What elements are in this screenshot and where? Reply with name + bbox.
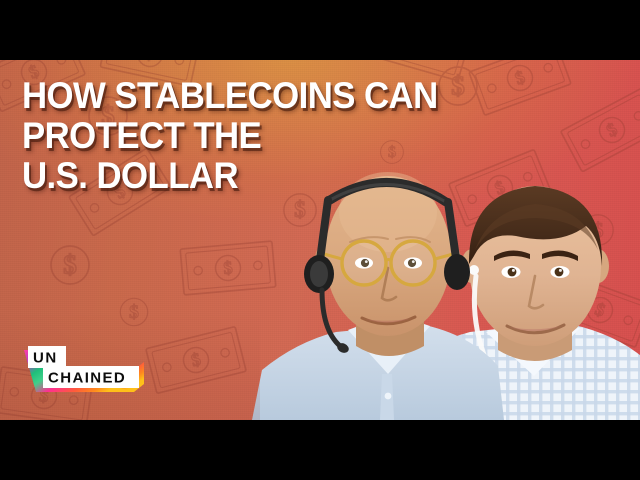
title-line-1: HOW STABLECOINS CAN [22, 76, 530, 116]
title-line-2: PROTECT THE [22, 116, 530, 156]
letterbox-bottom [0, 420, 640, 480]
logo-word-un: UN [33, 350, 58, 367]
unchained-logo[interactable]: UN CHAINED [18, 340, 148, 398]
host-left [252, 172, 504, 420]
thumbnail-title: HOW STABLECOINS CAN PROTECT THE U.S. DOL… [22, 76, 562, 196]
title-line-3: U.S. DOLLAR [22, 156, 530, 196]
logo-word-chained: CHAINED [48, 370, 126, 387]
video-thumbnail: $ $ [0, 0, 640, 480]
letterbox-top [0, 0, 640, 60]
video-frame: $ $ [0, 60, 640, 420]
